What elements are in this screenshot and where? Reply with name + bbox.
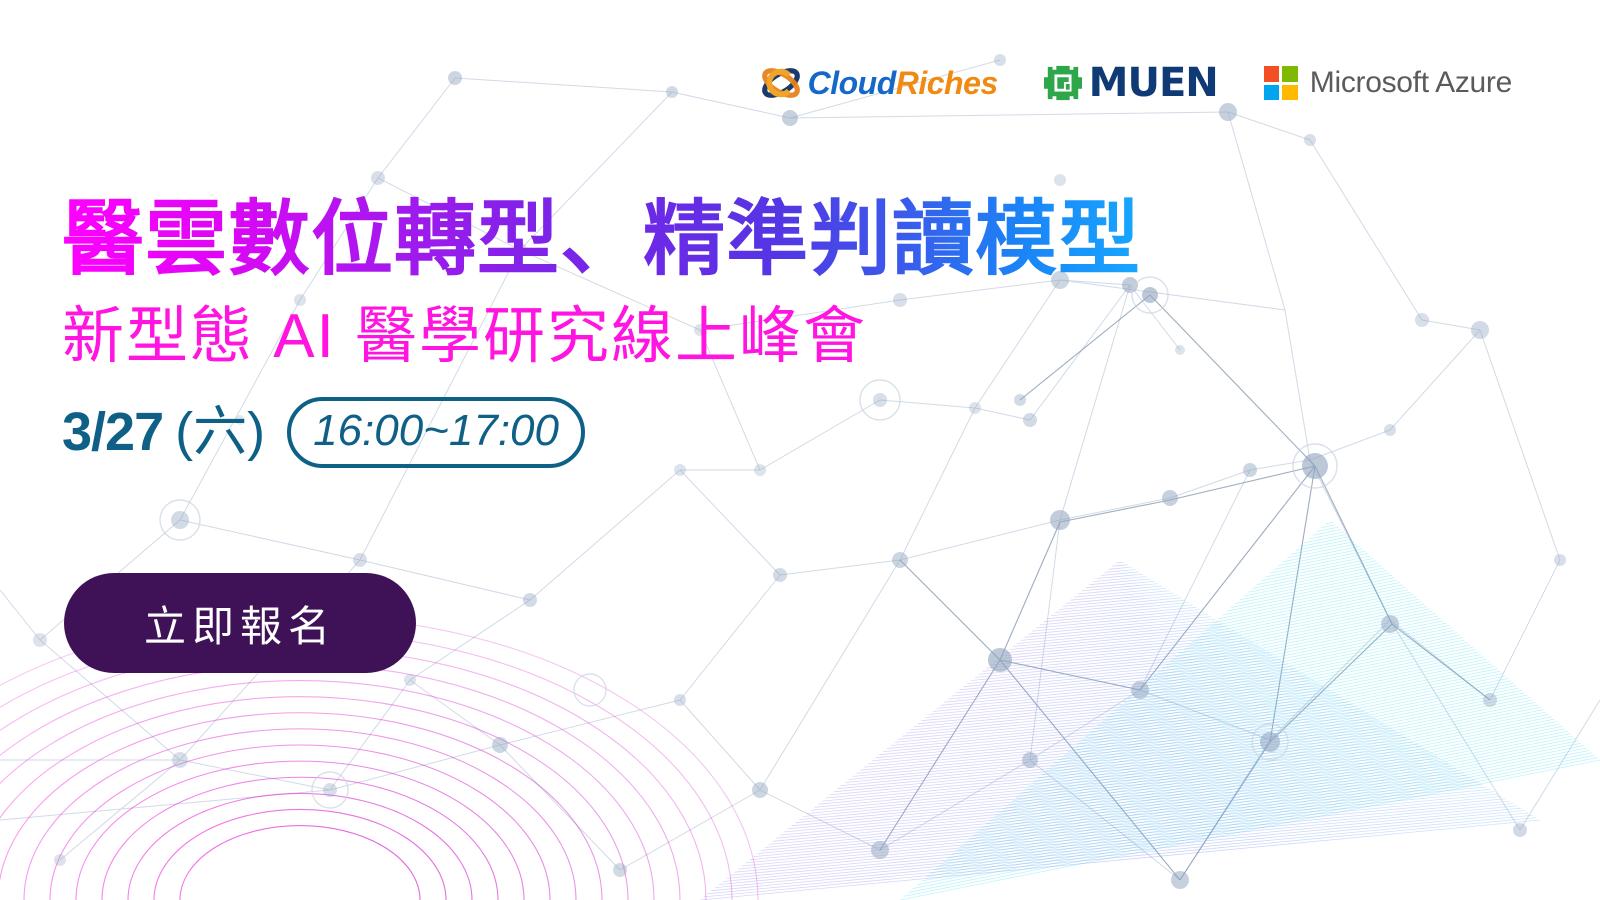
cloudriches-wordmark: CloudRiches [808, 67, 998, 99]
logo-muen[interactable]: MUEN [1044, 63, 1218, 103]
cloudriches-word-cloud: Cloud [808, 65, 896, 101]
event-date: 3/27 [62, 405, 163, 459]
microsoft-squares-icon [1264, 66, 1298, 100]
network-edges [0, 60, 1600, 880]
logo-cloudriches[interactable]: CloudRiches [760, 62, 998, 104]
event-time-badge: 16:00~17:00 [287, 397, 585, 468]
hero-copy: 醫雲數位轉型、精準判讀模型 新型態 AI 醫學研究線上峰會 3/27 (六) 1… [62, 196, 1141, 468]
event-datetime: 3/27 (六) 16:00~17:00 [62, 397, 1141, 468]
page-subtitle: 新型態 AI 醫學研究線上峰會 [62, 303, 1141, 371]
cloudriches-word-riches: Riches [896, 65, 998, 101]
muen-wordmark: MUEN [1089, 63, 1218, 103]
network-nodes [33, 54, 1566, 889]
event-weekday: (六) [175, 405, 265, 459]
orbit-icon [760, 62, 802, 104]
logo-microsoft-azure[interactable]: Microsoft Azure [1264, 66, 1512, 100]
blue-string-art [620, 560, 1600, 900]
green-cross-icon [1044, 64, 1082, 102]
register-button[interactable]: 立即報名 [64, 573, 416, 673]
page-title: 醫雲數位轉型、精準判讀模型 [62, 196, 1141, 285]
purple-string-art [470, 650, 1340, 900]
partner-logo-bar: CloudRiches MUEN Microsoft Azure [760, 62, 1512, 104]
microsoft-azure-wordmark: Microsoft Azure [1310, 68, 1512, 98]
webinar-banner: CloudRiches MUEN Microsoft Azure 醫雲數位轉型、… [0, 0, 1600, 900]
